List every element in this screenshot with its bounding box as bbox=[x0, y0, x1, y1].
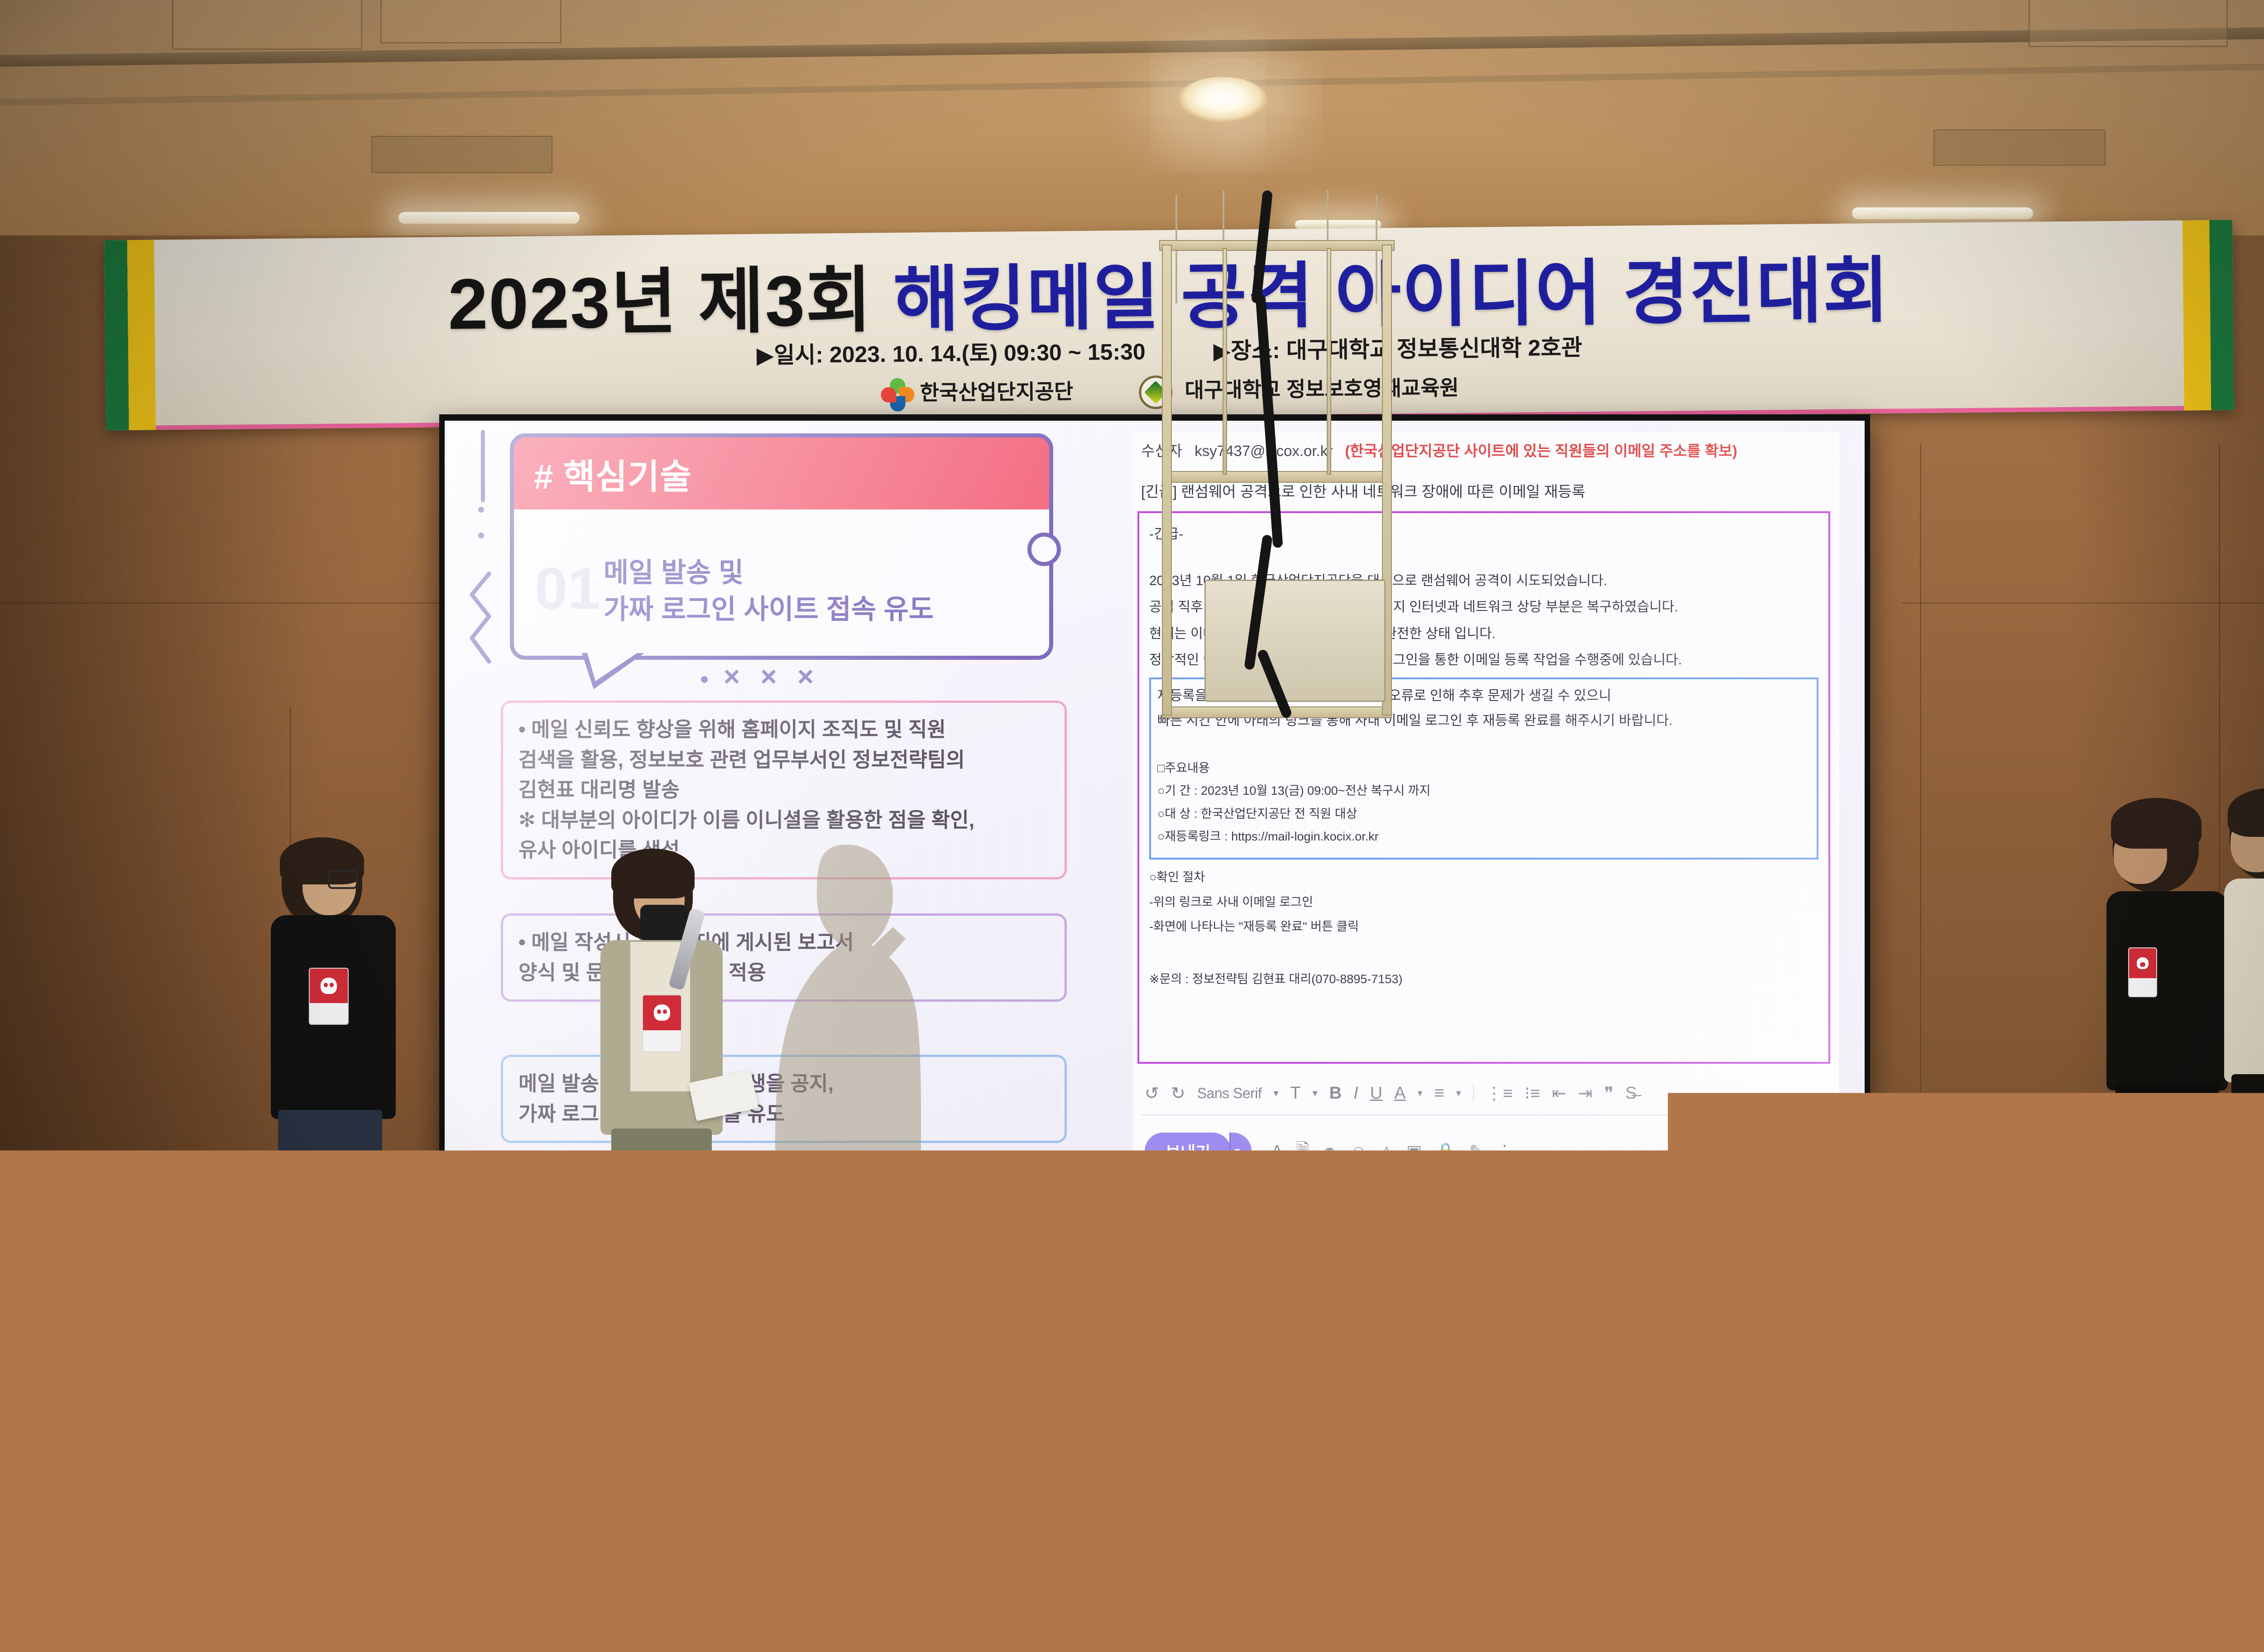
callout-tail-inner bbox=[587, 653, 637, 681]
text-color-icon[interactable]: A bbox=[1394, 1084, 1405, 1103]
mail-recipient-row: 수신자 ksy7437@kicox.or.kr (한국산업단지공단 사이트에 있… bbox=[1141, 439, 1737, 461]
signature-icon[interactable]: ✎ bbox=[1469, 1142, 1483, 1161]
confidential-mode-icon[interactable]: 🔒 bbox=[1435, 1142, 1456, 1161]
mail-send-row: 보내기 ▾ A 🗎 ⚭ ☺ △ ▣ 🔒 ✎ ⋮ bbox=[1145, 1133, 1513, 1170]
student-r2-shirt bbox=[2224, 879, 2264, 1082]
mail-footer-contact: ※문의 : 정보전략팀 김현표 대리(070-8895-7153) bbox=[1149, 970, 1818, 988]
skull-icon bbox=[321, 978, 337, 994]
mail-format-toolbar[interactable]: ↺ ↻ Sans Serif ▾ T ▾ B I U A ▾ ≡ ▾ ⋮≡ ⁝≡ bbox=[1145, 1079, 1801, 1107]
skull-icon bbox=[654, 1004, 670, 1021]
projector-mount-bar bbox=[1162, 706, 1392, 718]
glasses bbox=[328, 870, 358, 889]
slide-decor-line bbox=[481, 430, 485, 502]
mail-compose-icons[interactable]: A 🗎 ⚭ ☺ △ ▣ 🔒 ✎ ⋮ bbox=[1271, 1138, 1513, 1165]
slide-decor-dot bbox=[701, 676, 708, 683]
bullet-1-line-4: ✻ 대부분의 아이디가 이름 이니셜을 활용한 점을 확인, bbox=[518, 805, 1049, 836]
indent-more-icon[interactable]: ⇥ bbox=[1578, 1083, 1592, 1104]
banner-date: ▶일시: 2023. 10. 14.(토) 09:30 ~ 15:30 bbox=[756, 334, 1146, 370]
ceiling-strip-light bbox=[398, 212, 580, 224]
step-title-line-2: 가짜 로그인 사이트 접속 유도 bbox=[604, 591, 1038, 628]
step-title: 메일 발송 및 가짜 로그인 사이트 접속 유도 bbox=[604, 554, 1038, 628]
insert-emoji-icon[interactable]: ☺ bbox=[1350, 1142, 1367, 1161]
text-color-caret-icon[interactable]: ▾ bbox=[1417, 1087, 1422, 1099]
student-r1-shirt bbox=[2106, 891, 2228, 1090]
presenter-fringe bbox=[611, 849, 695, 898]
insert-photo-icon[interactable]: ▣ bbox=[1406, 1142, 1422, 1161]
bulleted-list-icon[interactable]: ⁝≡ bbox=[1525, 1083, 1540, 1104]
step-title-line-1: 메일 발송 및 bbox=[604, 554, 1038, 591]
align-icon[interactable]: ≡ bbox=[1434, 1084, 1444, 1103]
ceiling-panel bbox=[2029, 0, 2228, 47]
font-dropdown-caret-icon[interactable]: ▾ bbox=[1273, 1087, 1278, 1099]
projector-mount-post bbox=[1162, 245, 1172, 716]
key-technology-callout: # 핵심기술 01 메일 발송 및 가짜 로그인 사이트 접속 유도 bbox=[510, 433, 1053, 660]
mail-body-line-1: -긴급- bbox=[1149, 525, 1818, 544]
send-options-caret-icon[interactable]: ▾ bbox=[1229, 1133, 1252, 1170]
ceiling-downlight bbox=[1177, 77, 1268, 122]
mail-footer-line-2: -위의 링크로 사내 이메일 로그인 bbox=[1149, 893, 1818, 911]
student-r1-trousers bbox=[2115, 1082, 2219, 1287]
ceiling-strip-light bbox=[1852, 207, 2033, 219]
insert-drive-icon[interactable]: △ bbox=[1380, 1142, 1393, 1161]
student-r2-trousers bbox=[2231, 1074, 2264, 1287]
student-r1-fringe bbox=[2111, 798, 2202, 849]
font-name-select[interactable]: Sans Serif bbox=[1197, 1085, 1262, 1102]
slide-decor-crosses: × × × bbox=[724, 661, 820, 693]
slide-decor-dots bbox=[478, 507, 484, 558]
face-mask bbox=[640, 905, 687, 945]
mail-to-note: (한국산업단지공단 사이트에 있는 직원들의 이메일 주소를 확보) bbox=[1345, 442, 1737, 459]
key-technology-label: # 핵심기술 bbox=[534, 449, 692, 499]
student-r2-fringe bbox=[2228, 788, 2264, 837]
bullet-1-line-2: 검색을 활용, 정보보호 관련 업무부서인 정보전략팀의 bbox=[518, 745, 1049, 775]
key-technology-header: # 핵심기술 bbox=[510, 433, 1053, 509]
ceiling-projector bbox=[1204, 580, 1386, 702]
gmail-compose-screenshot: 수신자 ksy7437@kicox.or.kr (한국산업단지공단 사이트에 있… bbox=[1133, 432, 1839, 1229]
bullet-1-line-1: • 메일 신뢰도 향상을 위해 홈페이지 조직도 및 직원 bbox=[518, 715, 1049, 745]
text-size-caret-icon[interactable]: ▾ bbox=[1313, 1087, 1318, 1099]
projector-mount-rod bbox=[1327, 248, 1331, 475]
sponsor-name-kicox: 한국산업단지공단 bbox=[920, 379, 1073, 404]
numbered-list-icon[interactable]: ⋮≡ bbox=[1486, 1083, 1513, 1104]
audience-seating bbox=[0, 1304, 2264, 1652]
mail-toolbar-divider bbox=[1141, 1114, 1816, 1115]
banner-title-part-1: 2023년 제3회 bbox=[448, 260, 894, 344]
underline-icon[interactable]: U bbox=[1370, 1084, 1382, 1103]
projector-mount-bar bbox=[1159, 240, 1395, 251]
more-options-icon[interactable]: ⋮ bbox=[1497, 1142, 1513, 1161]
strikethrough-icon[interactable]: S̶ bbox=[1625, 1084, 1636, 1103]
step-number: 01 bbox=[535, 559, 600, 618]
mail-footer-line-1: ○확인 절차 bbox=[1149, 869, 1818, 886]
mail-hl-line-5: ○기 간 : 2023년 10월 13(금) 09:00~전산 복구시 까지 bbox=[1157, 782, 1810, 799]
presenter-id-badge bbox=[642, 994, 682, 1052]
ceiling-vent bbox=[371, 136, 552, 173]
ceiling-panel bbox=[380, 0, 561, 43]
mail-to-value: ksy7437@kicox.or.kr bbox=[1194, 442, 1333, 459]
bold-icon[interactable]: B bbox=[1329, 1084, 1342, 1103]
standing-student-left bbox=[271, 840, 461, 1266]
student-left-trousers bbox=[278, 1110, 382, 1267]
attach-file-icon[interactable]: 🗎 bbox=[1296, 1138, 1309, 1165]
mail-subject: [긴급] 랜섬웨어 공격으로 인한 사내 네트워크 장애에 따른 이메일 재등록 bbox=[1141, 480, 1585, 501]
send-button[interactable]: 보내기 bbox=[1145, 1133, 1231, 1170]
format-text-icon[interactable]: A bbox=[1271, 1142, 1282, 1161]
mail-footer-line-3: -화면에 나타나는 "재등록 완료" 버튼 클릭 bbox=[1149, 918, 1818, 935]
wall-seam bbox=[1920, 444, 1921, 1268]
text-size-icon[interactable]: T bbox=[1290, 1084, 1300, 1103]
presenter-shadow-on-screen bbox=[757, 842, 952, 1244]
photo-scene: 2023년 제3회 해킹메일 공격 아이디어 경진대회 ▶일시: 2023. 1… bbox=[0, 0, 2264, 1652]
presenter bbox=[599, 851, 771, 1295]
slide-decor-zigzag bbox=[468, 571, 494, 666]
italic-icon[interactable]: I bbox=[1353, 1084, 1358, 1103]
skull-icon bbox=[2137, 957, 2149, 969]
indent-less-icon[interactable]: ⇤ bbox=[1552, 1083, 1566, 1104]
mail-hl-line-4: □주요내용 bbox=[1157, 759, 1810, 777]
mail-hl-line-6: ○대 상 : 한국산업단지공단 전 직원 대상 bbox=[1157, 805, 1810, 822]
kicox-pinwheel-logo bbox=[881, 378, 915, 412]
mail-registration-link[interactable]: ○재등록링크 : https://mail-login.kocix.or.kr bbox=[1157, 828, 1810, 845]
student-left-id-badge bbox=[309, 968, 349, 1025]
ceiling-panel bbox=[172, 0, 362, 50]
undo-icon[interactable]: ↺ bbox=[1145, 1083, 1159, 1104]
quote-icon[interactable]: ❞ bbox=[1604, 1083, 1613, 1104]
align-caret-icon[interactable]: ▾ bbox=[1456, 1087, 1461, 1099]
redo-icon[interactable]: ↻ bbox=[1171, 1083, 1185, 1104]
projector-mount-rod bbox=[1223, 248, 1227, 475]
standing-student-white-shirt bbox=[2224, 792, 2264, 1290]
ceiling-vent bbox=[1933, 130, 2106, 166]
student-r1-id-badge bbox=[2128, 947, 2157, 997]
bullet-1-line-3: 김현표 대리명 발송 bbox=[518, 775, 1049, 805]
insert-link-icon[interactable]: ⚭ bbox=[1323, 1142, 1336, 1161]
mail-highlight-block: 재등록을 완료하지 않고 사용한 이메일은 오류로 인해 추후 문제가 생길 수… bbox=[1149, 677, 1818, 860]
